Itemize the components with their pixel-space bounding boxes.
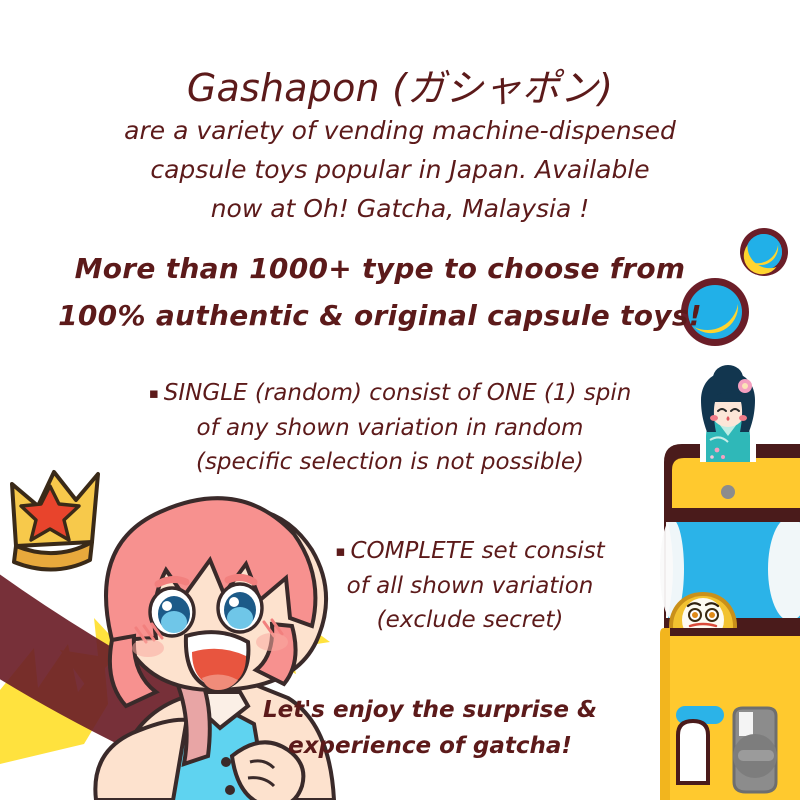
outro-line-1: Let's enjoy the surprise &: [220, 693, 640, 729]
headline-line-2: 100% authentic & original capsule toys!: [40, 299, 720, 332]
complete-line-2: of all shown variation: [275, 569, 665, 604]
poster-canvas: Gashapon (ガシャポン) are a variety of vendin…: [0, 0, 800, 800]
complete-line-1: ▪COMPLETE set consist: [275, 534, 665, 569]
single-line-1-text: SINGLE (random) consist of ONE (1) spin: [164, 380, 632, 406]
single-option-block: ▪SINGLE (random) consist of ONE (1) spin…: [110, 376, 670, 480]
single-line-3: (specific selection is not possible): [110, 445, 670, 480]
complete-line-1-text: COMPLETE set consist: [350, 538, 604, 564]
lead-line-2: capsule toys popular in Japan. Available: [100, 152, 700, 189]
text-content: Gashapon (ガシャポン) are a variety of vendin…: [0, 0, 800, 800]
lead-line-1: are a variety of vending machine-dispens…: [100, 113, 700, 150]
page-title: Gashapon (ガシャポン): [0, 57, 800, 112]
bullet-icon: ▪: [149, 384, 159, 402]
bullet-icon: ▪: [335, 542, 345, 560]
headline-line-1: More than 1000+ type to choose from: [40, 252, 720, 285]
complete-line-3: (exclude secret): [275, 603, 665, 638]
outro-line-2: experience of gatcha!: [220, 729, 640, 765]
complete-option-block: ▪COMPLETE set consist of all shown varia…: [275, 534, 665, 638]
outro-block: Let's enjoy the surprise & experience of…: [220, 693, 640, 765]
lead-line-3: now at Oh! Gatcha, Malaysia !: [100, 191, 700, 228]
single-line-1: ▪SINGLE (random) consist of ONE (1) spin: [110, 376, 670, 411]
single-line-2: of any shown variation in random: [110, 411, 670, 446]
